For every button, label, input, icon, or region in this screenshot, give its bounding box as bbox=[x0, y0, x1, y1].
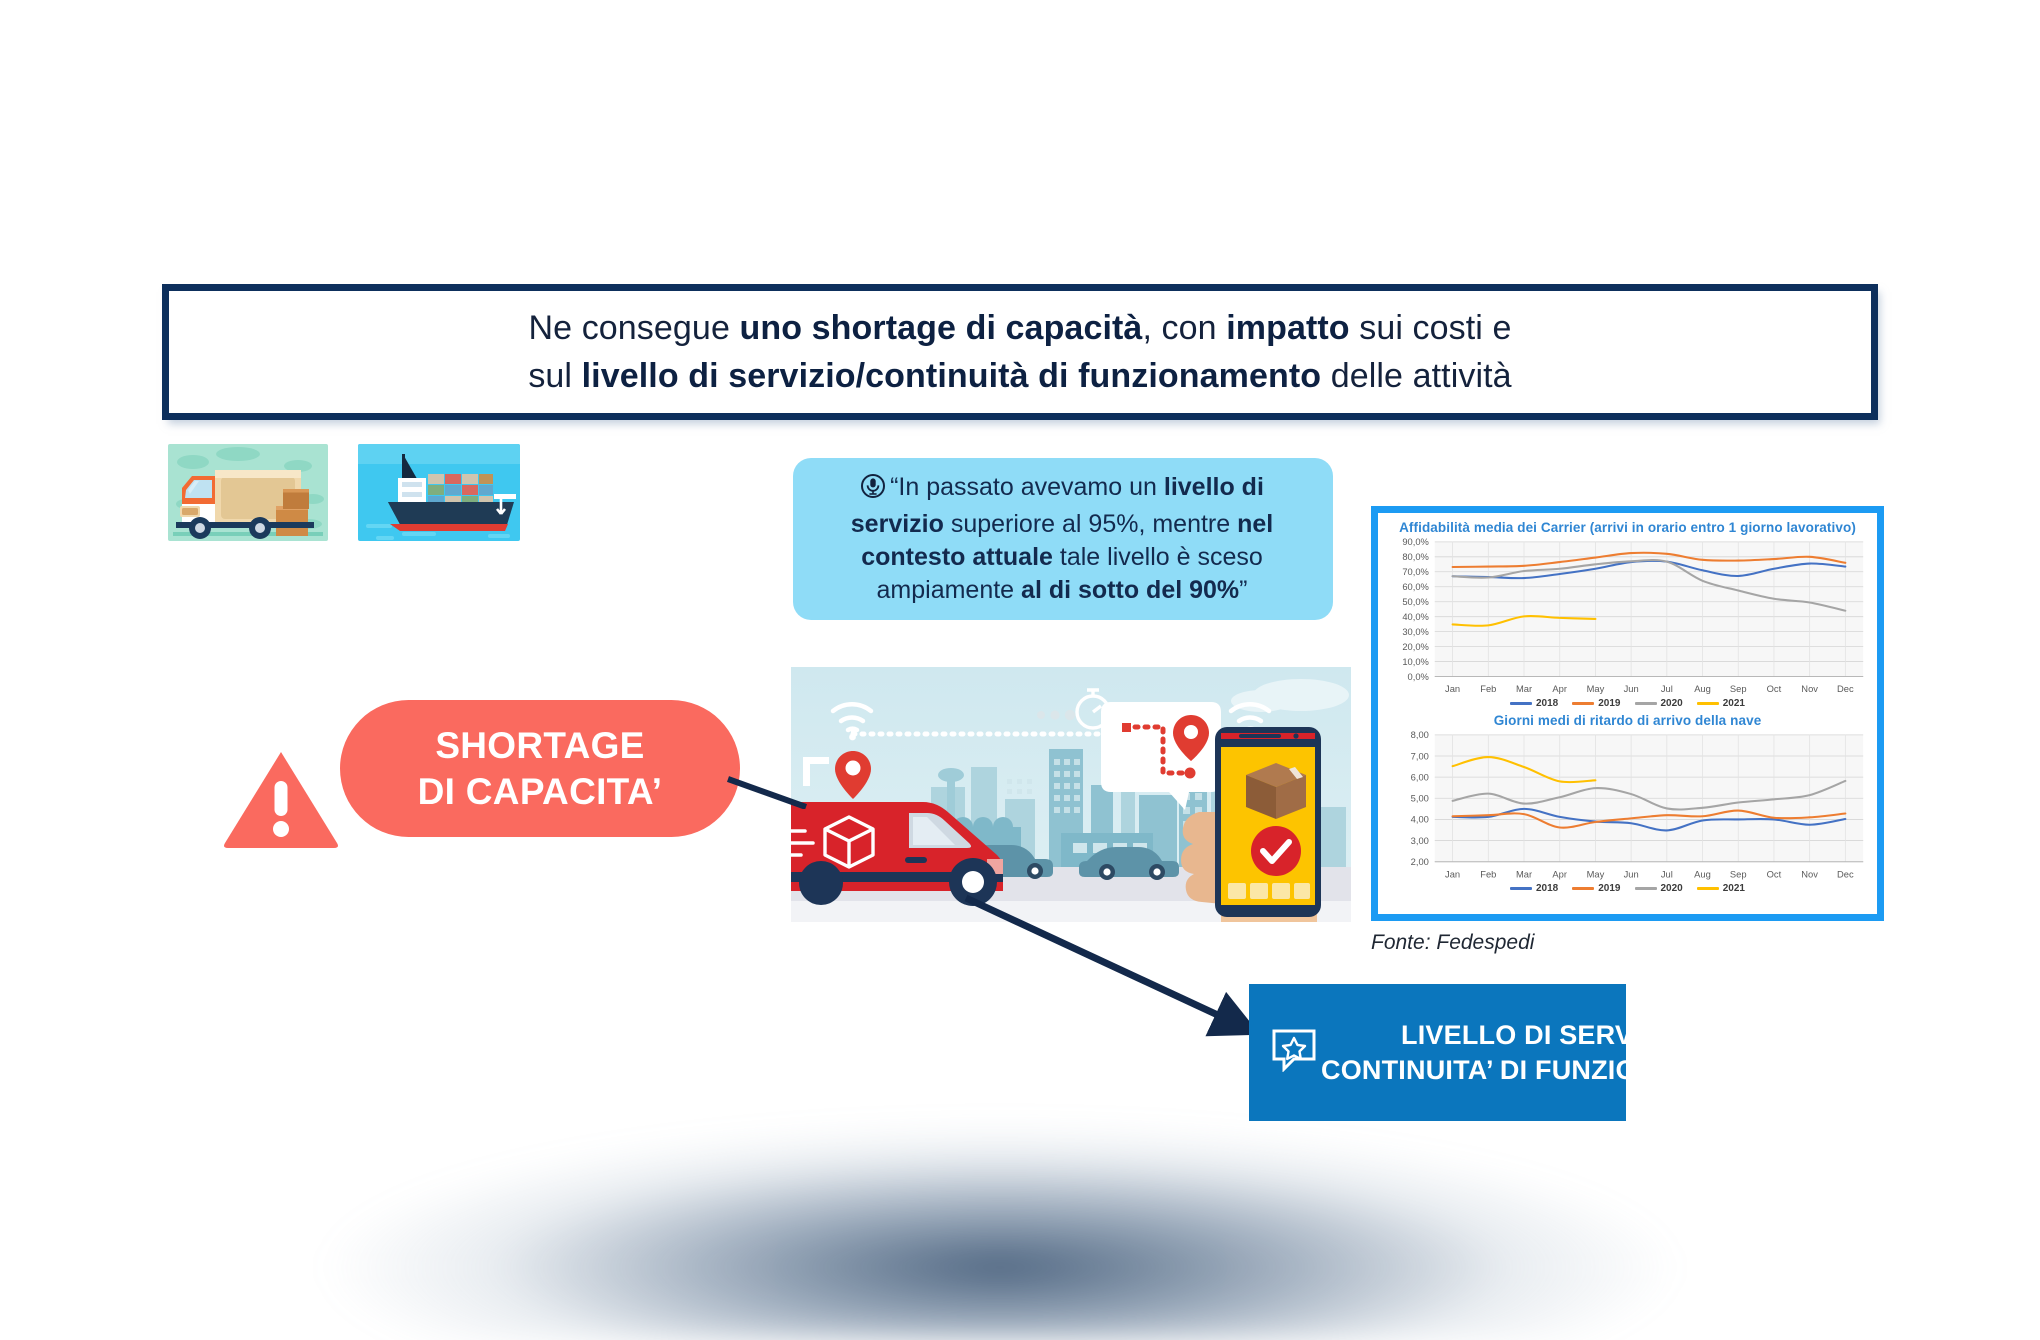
chart-reliability-legend: 2018201920202021 bbox=[1384, 698, 1871, 709]
chart-reliability-plot: 90,0%80,0%70,0%60,0%50,0%40,0%30,0%20,0%… bbox=[1384, 536, 1871, 700]
legend-label-2021: 2021 bbox=[1723, 698, 1745, 709]
warning-triangle-icon bbox=[222, 748, 340, 848]
legend-label-2018: 2018 bbox=[1536, 883, 1558, 894]
legend-item-2019: 2019 bbox=[1572, 698, 1620, 709]
svg-text:6,00: 6,00 bbox=[1411, 772, 1429, 782]
legend-item-2020: 2020 bbox=[1635, 883, 1683, 894]
legend-item-2020: 2020 bbox=[1635, 698, 1683, 709]
speech-bubble-star-icon bbox=[1271, 1028, 1317, 1077]
shortage-callout-pill[interactable]: SHORTAGE DI CAPACITA’ bbox=[340, 700, 740, 837]
truck-illustration bbox=[168, 444, 328, 541]
svg-text:May: May bbox=[1587, 684, 1605, 694]
svg-text:5,00: 5,00 bbox=[1411, 794, 1429, 804]
chart-delay-days-plot: 8,007,006,005,004,003,002,00JanFebMarApr… bbox=[1384, 729, 1871, 885]
svg-text:3,00: 3,00 bbox=[1411, 836, 1429, 846]
svg-text:10,0%: 10,0% bbox=[1402, 657, 1429, 667]
legend-label-2018: 2018 bbox=[1536, 698, 1558, 709]
svg-text:Apr: Apr bbox=[1552, 869, 1567, 879]
svg-text:7,00: 7,00 bbox=[1411, 751, 1429, 761]
svg-text:Nov: Nov bbox=[1801, 869, 1818, 879]
svg-text:Jan: Jan bbox=[1445, 684, 1460, 694]
quote-part7: ” bbox=[1239, 576, 1247, 604]
delivery-van-tracking-illustration bbox=[791, 667, 1351, 922]
source-note: Fonte: Fedespedi bbox=[1371, 931, 1534, 955]
svg-text:Feb: Feb bbox=[1480, 869, 1496, 879]
svg-text:0,0%: 0,0% bbox=[1408, 672, 1429, 682]
svg-text:Sep: Sep bbox=[1730, 869, 1747, 879]
pill-to-van-connector bbox=[726, 775, 808, 809]
headline-text: Ne consegue uno shortage di capacità, co… bbox=[528, 304, 1511, 401]
svg-text:20,0%: 20,0% bbox=[1402, 642, 1429, 652]
quote-part6: al di sotto del 90% bbox=[1021, 576, 1239, 604]
headline-line1-b: uno shortage di capacità bbox=[740, 309, 1143, 347]
legend-label-2019: 2019 bbox=[1598, 698, 1620, 709]
legend-swatch-2018 bbox=[1510, 702, 1532, 706]
cargo-ship-illustration bbox=[358, 444, 520, 541]
shortage-callout-label: SHORTAGE DI CAPACITA’ bbox=[418, 723, 663, 813]
legend-label-2020: 2020 bbox=[1661, 698, 1683, 709]
svg-text:Nov: Nov bbox=[1801, 684, 1818, 694]
svg-text:Sep: Sep bbox=[1730, 684, 1747, 694]
svg-text:Jun: Jun bbox=[1624, 684, 1639, 694]
legend-label-2019: 2019 bbox=[1598, 883, 1620, 894]
legend-item-2021: 2021 bbox=[1697, 883, 1745, 894]
headline-line2-b: livello di servizio/continuità di funzio… bbox=[582, 357, 1322, 395]
ship-icon bbox=[358, 444, 520, 541]
headline-box: Ne consegue uno shortage di capacità, co… bbox=[162, 284, 1878, 420]
legend-swatch-2020 bbox=[1635, 702, 1657, 706]
svg-text:Jul: Jul bbox=[1661, 684, 1673, 694]
svg-text:Apr: Apr bbox=[1552, 684, 1567, 694]
svg-text:Aug: Aug bbox=[1694, 684, 1711, 694]
headline-line1-e: sui costi e bbox=[1350, 309, 1512, 347]
legend-item-2021: 2021 bbox=[1697, 698, 1745, 709]
svg-text:40,0%: 40,0% bbox=[1402, 612, 1429, 622]
banner-line1: LIVELLO DI SERVIZIO/ bbox=[1401, 1020, 1694, 1050]
headline-line1-c: , con bbox=[1142, 309, 1226, 347]
microphone-icon bbox=[860, 473, 886, 508]
slide-canvas: Ne consegue uno shortage di capacità, co… bbox=[0, 0, 2040, 1200]
svg-text:2,00: 2,00 bbox=[1411, 857, 1429, 867]
svg-text:Mar: Mar bbox=[1516, 684, 1532, 694]
svg-text:Oct: Oct bbox=[1767, 684, 1782, 694]
legend-swatch-2019 bbox=[1572, 887, 1594, 891]
legend-item-2018: 2018 bbox=[1510, 883, 1558, 894]
headline-line2-a: sul bbox=[528, 357, 581, 395]
svg-text:May: May bbox=[1587, 869, 1605, 879]
legend-item-2019: 2019 bbox=[1572, 883, 1620, 894]
chart-reliability-title: Affidabilità media dei Carrier (arrivi i… bbox=[1384, 520, 1871, 535]
headline-line1-a: Ne consegue bbox=[528, 309, 739, 347]
service-level-banner-label: LIVELLO DI SERVIZIO/ CONTINUITA’ DI FUNZ… bbox=[1321, 1018, 1782, 1086]
svg-text:Dec: Dec bbox=[1837, 684, 1854, 694]
svg-text:8,00: 8,00 bbox=[1411, 730, 1429, 740]
quote-part3: superiore al 95%, mentre bbox=[944, 510, 1237, 538]
svg-text:30,0%: 30,0% bbox=[1402, 627, 1429, 637]
svg-text:70,0%: 70,0% bbox=[1402, 567, 1429, 577]
banner-line2: CONTINUITA’ DI FUNZIONAMENTO bbox=[1321, 1055, 1774, 1085]
svg-text:Dec: Dec bbox=[1837, 869, 1854, 879]
shortage-line2: DI CAPACITA’ bbox=[418, 771, 663, 812]
svg-text:50,0%: 50,0% bbox=[1402, 597, 1429, 607]
quote-part1: “In passato avevamo un bbox=[890, 473, 1164, 501]
svg-text:Mar: Mar bbox=[1516, 869, 1532, 879]
shortage-line1: SHORTAGE bbox=[435, 725, 644, 766]
legend-swatch-2021 bbox=[1697, 702, 1719, 706]
truck-icon bbox=[168, 444, 328, 541]
headline-line1-d: impatto bbox=[1226, 309, 1349, 347]
svg-text:Feb: Feb bbox=[1480, 684, 1496, 694]
legend-swatch-2020 bbox=[1635, 887, 1657, 891]
legend-swatch-2021 bbox=[1697, 887, 1719, 891]
quote-text: “In passato avevamo un livello di serviz… bbox=[815, 471, 1309, 608]
svg-text:Jun: Jun bbox=[1624, 869, 1639, 879]
headline-line2-c: delle attività bbox=[1321, 357, 1512, 395]
svg-text:Oct: Oct bbox=[1767, 869, 1782, 879]
service-level-banner[interactable]: LIVELLO DI SERVIZIO/ CONTINUITA’ DI FUNZ… bbox=[1249, 984, 1626, 1121]
svg-text:Aug: Aug bbox=[1694, 869, 1711, 879]
svg-text:90,0%: 90,0% bbox=[1402, 537, 1429, 547]
legend-item-2018: 2018 bbox=[1510, 698, 1558, 709]
quote-bubble: “In passato avevamo un livello di serviz… bbox=[793, 458, 1333, 620]
chart-reliability: Affidabilità media dei Carrier (arrivi i… bbox=[1384, 520, 1871, 709]
svg-text:80,0%: 80,0% bbox=[1402, 552, 1429, 562]
svg-text:Jan: Jan bbox=[1445, 869, 1460, 879]
chart-delay-days-legend: 2018201920202021 bbox=[1384, 883, 1871, 894]
charts-panel: Affidabilità media dei Carrier (arrivi i… bbox=[1371, 506, 1884, 921]
svg-text:60,0%: 60,0% bbox=[1402, 582, 1429, 592]
svg-text:4,00: 4,00 bbox=[1411, 815, 1429, 825]
legend-swatch-2019 bbox=[1572, 702, 1594, 706]
legend-label-2021: 2021 bbox=[1723, 883, 1745, 894]
chart-delay-days-title: Giorni medi di ritardo di arrivo della n… bbox=[1384, 713, 1871, 728]
chart-delay-days: Giorni medi di ritardo di arrivo della n… bbox=[1384, 713, 1871, 894]
legend-swatch-2018 bbox=[1510, 887, 1532, 891]
legend-label-2020: 2020 bbox=[1661, 883, 1683, 894]
svg-text:Jul: Jul bbox=[1661, 869, 1673, 879]
